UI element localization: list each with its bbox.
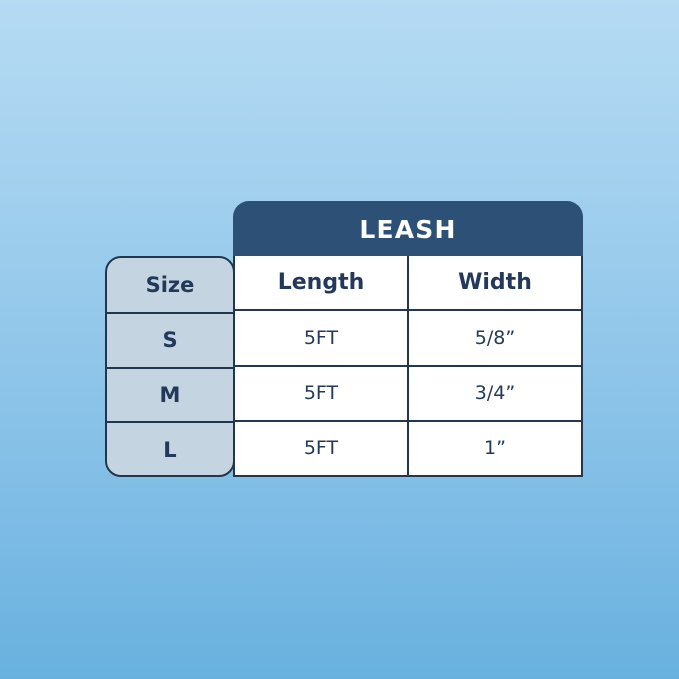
measurements-grid: Length Width 5FT 5/8” 5FT 3/4” 5FT 1” [233, 256, 583, 477]
size-column-header: Size [107, 258, 233, 314]
length-value-l: 5FT [235, 422, 409, 475]
size-chart-canvas: LEASH Size S M L Length Width 5FT 5/8” 5… [0, 0, 679, 679]
table-title: LEASH [359, 217, 456, 242]
size-value-s: S [107, 314, 233, 369]
width-value-m: 3/4” [409, 367, 581, 420]
table-header-row: Length Width [235, 256, 581, 311]
table-row: 5FT 1” [235, 422, 581, 475]
size-value-m: M [107, 369, 233, 424]
table-row: 5FT 5/8” [235, 311, 581, 366]
length-value-s: 5FT [235, 311, 409, 364]
width-value-l: 1” [409, 422, 581, 475]
width-value-s: 5/8” [409, 311, 581, 364]
size-column: Size S M L [105, 256, 235, 477]
length-column-header: Length [235, 256, 409, 309]
length-value-m: 5FT [235, 367, 409, 420]
size-value-l: L [107, 423, 233, 477]
table-title-bar: LEASH [233, 201, 583, 257]
width-column-header: Width [409, 256, 581, 309]
table-row: 5FT 3/4” [235, 367, 581, 422]
